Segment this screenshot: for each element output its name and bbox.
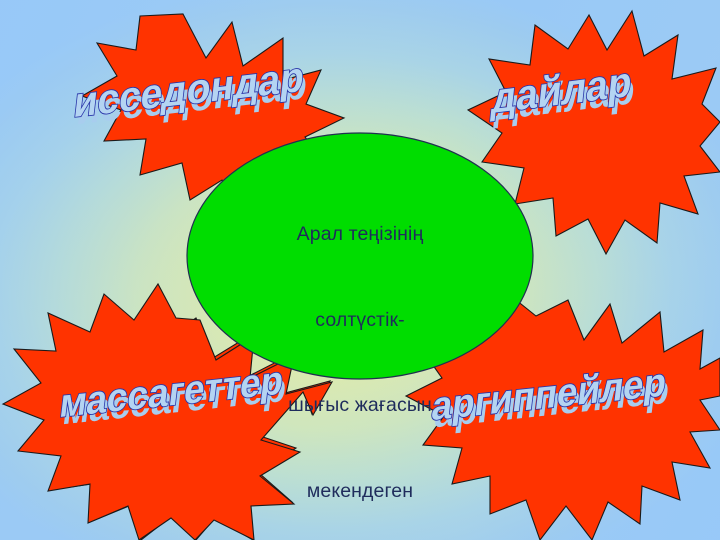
body-line-1: Арал теңізінің — [187, 220, 533, 249]
body-line-4: мекендеген — [187, 477, 533, 506]
body-line-2: солтүстік- — [187, 306, 533, 335]
presentation-slide: Арал теңізінің солтүстік- шығыс жағасын … — [0, 0, 720, 540]
ellipse-body-text: Арал теңізінің солтүстік- шығыс жағасын … — [187, 163, 533, 540]
